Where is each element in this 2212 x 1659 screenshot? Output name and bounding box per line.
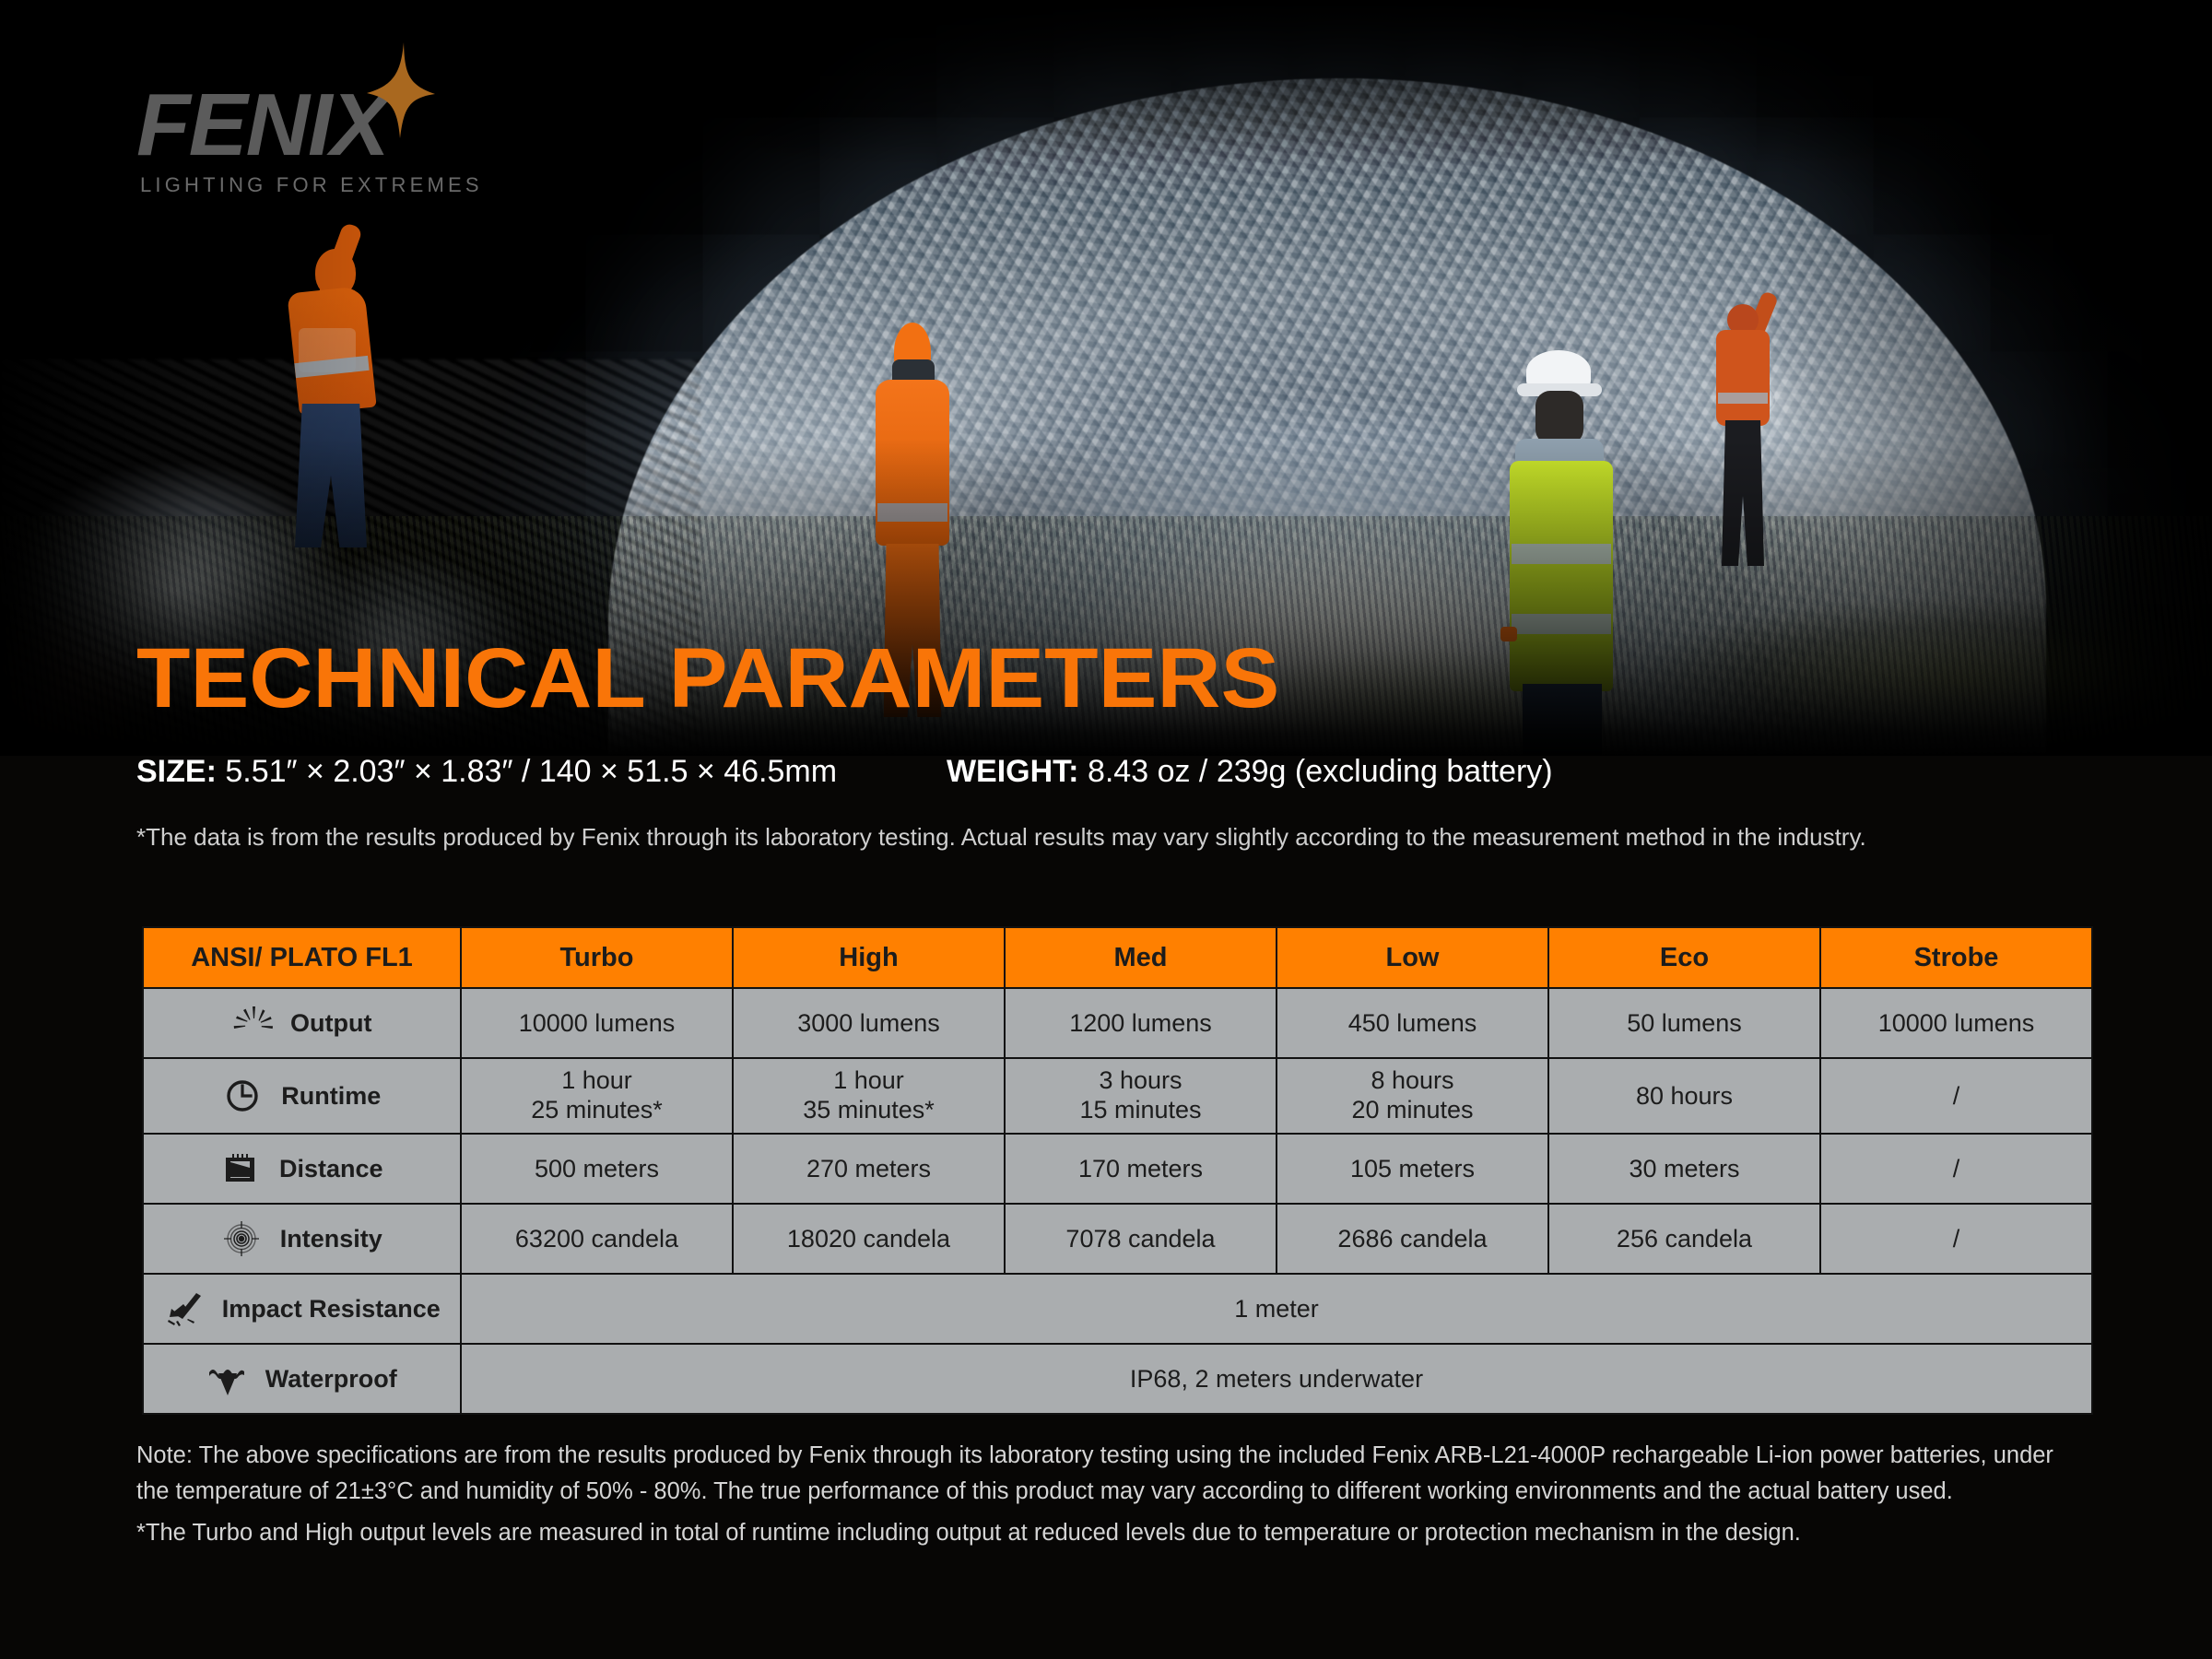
row-label-text: Output <box>290 1009 371 1038</box>
table-header-row: ANSI/ PLATO FL1 Turbo High Med Low Eco S… <box>143 927 2092 988</box>
page-title: TECHNICAL PARAMETERS <box>136 636 1279 721</box>
row-label-text: Intensity <box>280 1225 382 1253</box>
cell-output-low: 450 lumens <box>1277 988 1548 1058</box>
logo-tagline: LIGHTING FOR EXTREMES <box>140 173 524 197</box>
footnote-line-2: *The Turbo and High output levels are me… <box>136 1515 2081 1551</box>
runtime-turbo-l1: 1 hour <box>462 1066 732 1096</box>
cell-intensity-turbo: 63200 candela <box>461 1204 733 1274</box>
cell-runtime-med: 3 hours 15 minutes <box>1005 1058 1277 1134</box>
table-row-waterproof: Waterproof IP68, 2 meters underwater <box>143 1344 2092 1414</box>
cell-distance-strobe: / <box>1820 1134 2092 1204</box>
cell-impact-resistance-value: 1 meter <box>461 1274 2092 1344</box>
row-label-output: Output <box>143 988 461 1058</box>
product-spec-page: FENIX LIGHTING FOR EXTREMES TECHNICAL PA… <box>0 0 2212 1659</box>
cell-intensity-med: 7078 candela <box>1005 1204 1277 1274</box>
cell-runtime-turbo: 1 hour 25 minutes* <box>461 1058 733 1134</box>
table-row-impact-resistance: Impact Resistance 1 meter <box>143 1274 2092 1344</box>
table-row-runtime: Runtime 1 hour 25 minutes* 1 hour 35 min… <box>143 1058 2092 1134</box>
fenix-logo: FENIX LIGHTING FOR EXTREMES <box>136 81 524 210</box>
intensity-target-icon <box>221 1220 264 1257</box>
table-row-intensity: Intensity 63200 candela 18020 candela 70… <box>143 1204 2092 1274</box>
cell-intensity-strobe: / <box>1820 1204 2092 1274</box>
row-label-impact-resistance: Impact Resistance <box>143 1274 461 1344</box>
cell-distance-low: 105 meters <box>1277 1134 1548 1204</box>
footnote-line-1: Note: The above specifications are from … <box>136 1438 2081 1510</box>
cell-runtime-high: 1 hour 35 minutes* <box>733 1058 1005 1134</box>
cell-distance-eco: 30 meters <box>1548 1134 1820 1204</box>
cell-distance-high: 270 meters <box>733 1134 1005 1204</box>
row-label-text: Runtime <box>281 1082 381 1111</box>
cell-output-med: 1200 lumens <box>1005 988 1277 1058</box>
cell-output-strobe: 10000 lumens <box>1820 988 2092 1058</box>
cell-intensity-high: 18020 candela <box>733 1204 1005 1274</box>
cell-runtime-eco: 80 hours <box>1548 1058 1820 1134</box>
runtime-high-l2: 35 minutes* <box>734 1096 1004 1125</box>
cell-waterproof-value: IP68, 2 meters underwater <box>461 1344 2092 1414</box>
beam-distance-icon <box>220 1150 263 1187</box>
row-label-text: Waterproof <box>265 1365 397 1394</box>
cell-runtime-low: 8 hours 20 minutes <box>1277 1058 1548 1134</box>
weight-value: 8.43 oz / 239g (excluding battery) <box>1088 754 1553 789</box>
col-header-med: Med <box>1005 927 1277 988</box>
impact-drop-icon <box>163 1290 206 1327</box>
col-header-turbo: Turbo <box>461 927 733 988</box>
runtime-med-l1: 3 hours <box>1006 1066 1276 1096</box>
size-weight-line: SIZE: 5.51″ × 2.03″ × 1.83″ / 140 × 51.5… <box>136 754 1553 790</box>
runtime-turbo-l2: 25 minutes* <box>462 1096 732 1125</box>
cell-intensity-eco: 256 candela <box>1548 1204 1820 1274</box>
cell-output-turbo: 10000 lumens <box>461 988 733 1058</box>
footnote-block: Note: The above specifications are from … <box>136 1438 2081 1550</box>
cell-output-high: 3000 lumens <box>733 988 1005 1058</box>
runtime-low-l2: 20 minutes <box>1277 1096 1547 1125</box>
runtime-high-l1: 1 hour <box>734 1066 1004 1096</box>
runtime-low-l1: 8 hours <box>1277 1066 1547 1096</box>
waterproof-icon <box>206 1360 249 1397</box>
cell-runtime-strobe: / <box>1820 1058 2092 1134</box>
col-header-low: Low <box>1277 927 1548 988</box>
col-header-strobe: Strobe <box>1820 927 2092 988</box>
four-point-star-icon <box>367 42 435 138</box>
size-label: SIZE: <box>136 754 217 789</box>
specifications-table: ANSI/ PLATO FL1 Turbo High Med Low Eco S… <box>142 926 2093 1415</box>
disclaimer-text: *The data is from the results produced b… <box>136 820 1888 855</box>
cell-intensity-low: 2686 candela <box>1277 1204 1548 1274</box>
col-header-high: High <box>733 927 1005 988</box>
col-header-ansi: ANSI/ PLATO FL1 <box>143 927 461 988</box>
table-row-distance: Distance 500 meters 270 meters 170 meter… <box>143 1134 2092 1204</box>
light-burst-icon <box>232 1005 275 1041</box>
row-label-distance: Distance <box>143 1134 461 1204</box>
cell-distance-med: 170 meters <box>1005 1134 1277 1204</box>
row-label-waterproof: Waterproof <box>143 1344 461 1414</box>
row-label-intensity: Intensity <box>143 1204 461 1274</box>
cell-output-eco: 50 lumens <box>1548 988 1820 1058</box>
runtime-med-l2: 15 minutes <box>1006 1096 1276 1125</box>
cell-distance-turbo: 500 meters <box>461 1134 733 1204</box>
weight-label: WEIGHT: <box>947 754 1079 789</box>
col-header-eco: Eco <box>1548 927 1820 988</box>
logo-wordmark: FENIX <box>136 81 524 170</box>
row-label-runtime: Runtime <box>143 1058 461 1134</box>
size-value: 5.51″ × 2.03″ × 1.83″ / 140 × 51.5 × 46.… <box>225 754 837 789</box>
row-label-text: Distance <box>279 1155 383 1183</box>
clock-icon <box>223 1077 265 1114</box>
row-label-text: Impact Resistance <box>222 1295 441 1324</box>
table-row-output: Output 10000 lumens 3000 lumens 1200 lum… <box>143 988 2092 1058</box>
